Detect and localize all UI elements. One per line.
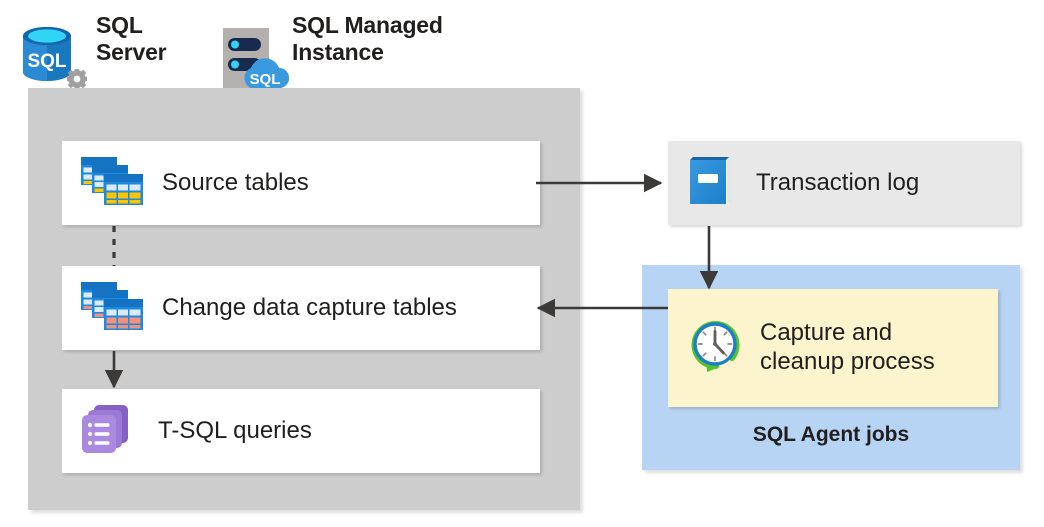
diagram-canvas: SQL SQL Server <box>0 0 1044 527</box>
connector-layer <box>0 0 1044 527</box>
